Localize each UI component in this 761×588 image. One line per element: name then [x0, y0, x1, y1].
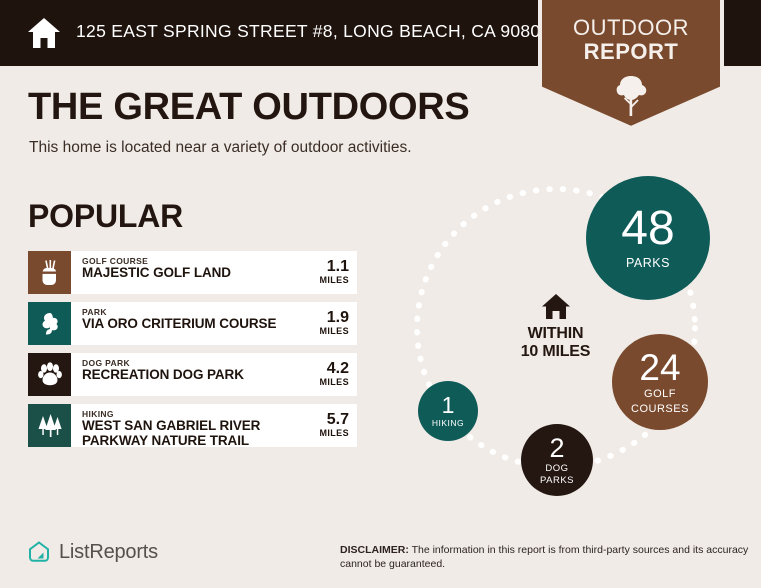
list-item-distance: 5.7 MILES [293, 404, 357, 447]
list-item-body: HIKING WEST SAN GABRIEL RIVER PARKWAY NA… [71, 404, 293, 447]
list-item-distance-value: 5.7 [293, 412, 349, 428]
list-item-body: GOLF COURSE MAJESTIC GOLF LAND [71, 251, 293, 294]
list-item-distance-unit: MILES [293, 428, 349, 439]
list-item-body: PARK VIA ORO CRITERIUM COURSE [71, 302, 293, 345]
listreports-logo-text: ListReports [59, 541, 158, 564]
pine-trees-icon [36, 413, 64, 439]
list-item-icon-tile [28, 353, 71, 396]
list-item[interactable]: HIKING WEST SAN GABRIEL RIVER PARKWAY NA… [28, 404, 357, 447]
stat-label: HIKING [432, 419, 464, 428]
stat-circle-parks[interactable]: 48 PARKS [586, 176, 710, 300]
stat-label: PARKS [626, 257, 670, 270]
header-address: 125 EAST SPRING STREET #8, LONG BEACH, C… [76, 21, 550, 42]
list-item-distance-unit: MILES [293, 326, 349, 337]
list-item-distance-unit: MILES [293, 275, 349, 286]
stat-count: 1 [442, 394, 455, 417]
list-item-distance: 1.1 MILES [293, 251, 357, 294]
list-item-distance-unit: MILES [293, 377, 349, 388]
list-item-distance-value: 4.2 [293, 361, 349, 377]
golf-bag-icon [38, 260, 62, 286]
proximity-diagram: 48 PARKS 24 GOLF COURSES 2 DOG PARKS 1 H… [396, 168, 761, 513]
stat-label-line-2: PARKS [540, 476, 574, 486]
center-line-2: 10 MILES [493, 343, 618, 361]
stat-label-line-1: GOLF [644, 389, 676, 401]
list-item-distance: 4.2 MILES [293, 353, 357, 396]
list-item-name: WEST SAN GABRIEL RIVER PARKWAY NATURE TR… [82, 419, 293, 447]
outdoor-report-infographic: 125 EAST SPRING STREET #8, LONG BEACH, C… [0, 0, 761, 588]
listreports-logo-icon [27, 540, 51, 564]
page-subtitle: This home is located near a variety of o… [29, 139, 412, 157]
disclaimer: DISCLAIMER: The information in this repo… [340, 543, 752, 571]
outdoor-report-badge: OUTDOOR REPORT [536, 0, 726, 132]
section-title-popular: POPULAR [28, 198, 183, 235]
list-item[interactable]: GOLF COURSE MAJESTIC GOLF LAND 1.1 MILES [28, 251, 357, 294]
list-item-distance-value: 1.9 [293, 310, 349, 326]
list-item-name: MAJESTIC GOLF LAND [82, 266, 293, 281]
stat-label-line-1: DOG [545, 464, 568, 474]
stat-circle-dog-parks[interactable]: 2 DOG PARKS [521, 424, 593, 496]
disclaimer-label: DISCLAIMER: [340, 544, 409, 556]
stat-circle-golf-courses[interactable]: 24 GOLF COURSES [612, 334, 708, 430]
list-item-icon-tile [28, 404, 71, 447]
list-item-icon-tile [28, 302, 71, 345]
list-item[interactable]: DOG PARK RECREATION DOG PARK 4.2 MILES [28, 353, 357, 396]
diagram-center: WITHIN 10 MILES [493, 293, 618, 361]
list-item-distance-value: 1.1 [293, 259, 349, 275]
listreports-logo[interactable]: ListReports [27, 540, 158, 564]
list-item-name: RECREATION DOG PARK [82, 368, 293, 383]
list-item-body: DOG PARK RECREATION DOG PARK [71, 353, 293, 396]
house-icon [26, 15, 62, 51]
list-item-icon-tile [28, 251, 71, 294]
list-item-name: VIA ORO CRITERIUM COURSE [82, 317, 293, 332]
page-title: THE GREAT OUTDOORS [28, 86, 469, 129]
stat-count: 24 [639, 349, 680, 386]
stat-label-line-2: COURSES [631, 404, 689, 416]
tree-icon [615, 74, 647, 118]
stat-count: 48 [621, 205, 674, 253]
stat-circle-hiking[interactable]: 1 HIKING [418, 381, 478, 441]
house-icon [541, 293, 571, 321]
center-line-1: WITHIN [493, 325, 618, 343]
popular-list: GOLF COURSE MAJESTIC GOLF LAND 1.1 MILES… [28, 251, 357, 455]
list-item[interactable]: PARK VIA ORO CRITERIUM COURSE 1.9 MILES [28, 302, 357, 345]
park-tree-icon [37, 312, 63, 336]
stat-count: 2 [549, 435, 564, 462]
paw-icon [37, 362, 63, 387]
list-item-distance: 1.9 MILES [293, 302, 357, 345]
